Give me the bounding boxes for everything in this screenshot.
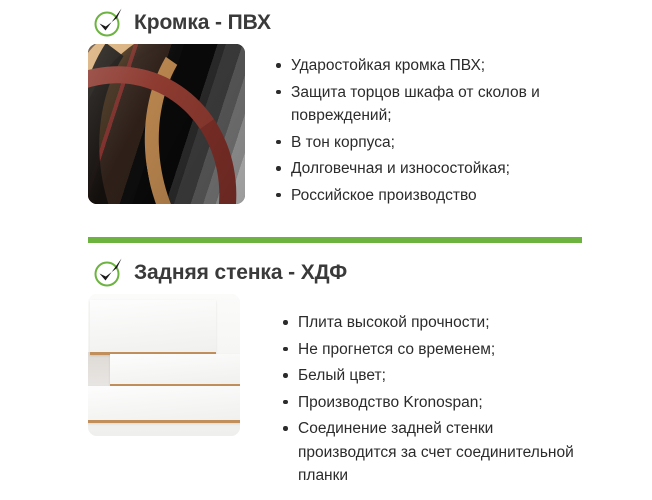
list-item: Не прогнется со временем; bbox=[281, 338, 578, 362]
hdf-board-artwork bbox=[88, 294, 240, 436]
check-circle-icon bbox=[92, 5, 126, 39]
product-image-hdf-board bbox=[88, 294, 240, 436]
section-content-edge: Ударостойкая кромка ПВХ; Защита торцов ш… bbox=[0, 44, 652, 210]
section-content-back: Плита высокой прочности; Не прогнется со… bbox=[0, 294, 652, 491]
section-heading-back: Задняя стенка - ХДФ bbox=[0, 250, 652, 294]
feature-list-page: Кромка - ПВХ Ударостойкая кромка ПВХ; За… bbox=[0, 0, 652, 500]
section-divider bbox=[88, 237, 582, 243]
board-panel-bottom bbox=[88, 386, 240, 423]
feature-list-edge: Ударостойкая кромка ПВХ; Защита торцов ш… bbox=[274, 54, 601, 210]
feature-list-back: Плита высокой прочности; Не прогнется со… bbox=[281, 311, 578, 491]
section-title: Кромка - ПВХ bbox=[134, 12, 271, 33]
section-heading-edge: Кромка - ПВХ bbox=[0, 0, 652, 44]
section-edge-banding: Кромка - ПВХ Ударостойкая кромка ПВХ; За… bbox=[0, 0, 652, 210]
list-item: Долговечная и износостойкая; bbox=[274, 157, 601, 181]
list-item: В тон корпуса; bbox=[274, 131, 601, 155]
section-title: Задняя стенка - ХДФ bbox=[134, 262, 347, 283]
list-item: Защита торцов шкафа от сколов и поврежде… bbox=[274, 81, 601, 128]
list-item: Белый цвет; bbox=[281, 364, 578, 388]
board-panel-top bbox=[90, 300, 216, 355]
check-circle-icon bbox=[92, 255, 126, 289]
list-item: Плита высокой прочности; bbox=[281, 311, 578, 335]
list-item: Производство Kronospan; bbox=[281, 391, 578, 415]
list-item: Российское производство bbox=[274, 184, 601, 208]
product-image-edge-banding bbox=[88, 44, 245, 204]
section-back-panel: Задняя стенка - ХДФ Плита высокой прочно… bbox=[0, 232, 652, 491]
board-panel-middle bbox=[110, 354, 240, 387]
list-item: Ударостойкая кромка ПВХ; bbox=[274, 54, 601, 78]
list-item: Соединение задней стенки производится за… bbox=[281, 417, 578, 488]
image-gloss-overlay bbox=[88, 44, 245, 204]
